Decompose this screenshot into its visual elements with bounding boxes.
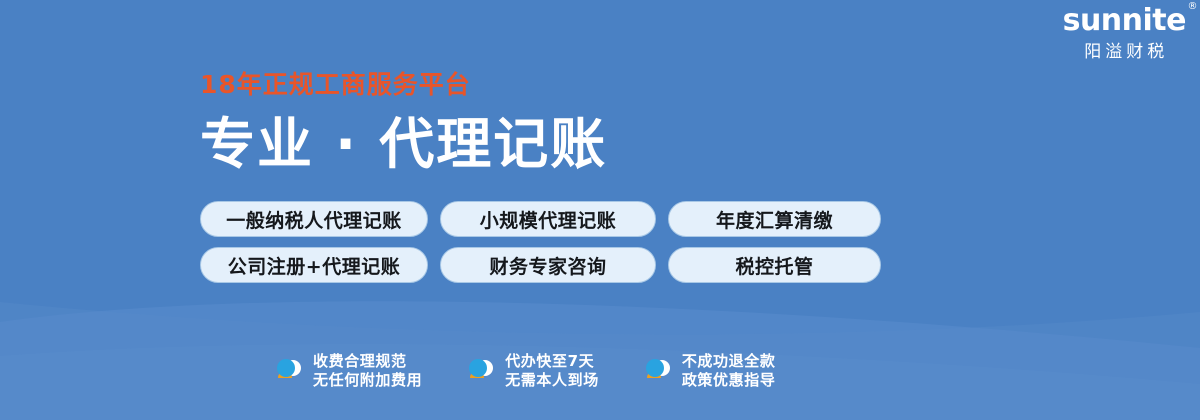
feature-text: 收费合理规范 无任何附加费用 [313,352,422,390]
moon-circle-icon [466,354,496,388]
registered-trademark-icon: ® [1188,2,1198,12]
promo-banner: sunnite ® 阳溢财税 18年正规工商服务平台 专业 · 代理记账 一般纳… [0,0,1200,420]
feature-text: 不成功退全款 政策优惠指导 [682,352,776,390]
service-pill[interactable]: 税控托管 [668,247,881,283]
moon-circle-icon [643,354,673,388]
service-pill[interactable]: 年度汇算清缴 [668,201,881,237]
feature-line-1: 代办快至7天 [505,352,599,371]
feature-item: 代办快至7天 无需本人到场 [466,352,599,390]
feature-text: 代办快至7天 无需本人到场 [505,352,599,390]
hero-title: 专业 · 代理记账 [200,117,607,172]
hero-eyebrow: 18年正规工商服务平台 [200,72,607,97]
service-pill-row-2: 公司注册+代理记账 财务专家咨询 税控托管 [200,247,881,283]
service-pill-group: 一般纳税人代理记账 小规模代理记账 年度汇算清缴 公司注册+代理记账 财务专家咨… [200,201,881,283]
feature-strip: 收费合理规范 无任何附加费用 代办快至7天 无需本人到场 不成功退全款 [274,352,775,390]
company-logo[interactable]: sunnite ® 阳溢财税 [1063,6,1186,60]
service-pill-row-1: 一般纳税人代理记账 小规模代理记账 年度汇算清缴 [200,201,881,237]
feature-line-1: 不成功退全款 [682,352,776,371]
feature-item: 不成功退全款 政策优惠指导 [643,352,776,390]
feature-line-2: 无任何附加费用 [313,371,422,390]
feature-line-2: 政策优惠指导 [682,371,776,390]
service-pill[interactable]: 财务专家咨询 [440,247,656,283]
service-pill[interactable]: 一般纳税人代理记账 [200,201,428,237]
moon-circle-icon [274,354,304,388]
feature-line-2: 无需本人到场 [505,371,599,390]
service-pill[interactable]: 公司注册+代理记账 [200,247,428,283]
logo-chinese-name: 阳溢财税 [1063,43,1186,60]
service-pill[interactable]: 小规模代理记账 [440,201,656,237]
logo-wordmark-text: sunnite [1063,3,1186,38]
feature-item: 收费合理规范 无任何附加费用 [274,352,422,390]
logo-wordmark: sunnite ® [1063,6,1186,36]
feature-line-1: 收费合理规范 [313,352,422,371]
hero-headline-block: 18年正规工商服务平台 专业 · 代理记账 [200,72,607,172]
